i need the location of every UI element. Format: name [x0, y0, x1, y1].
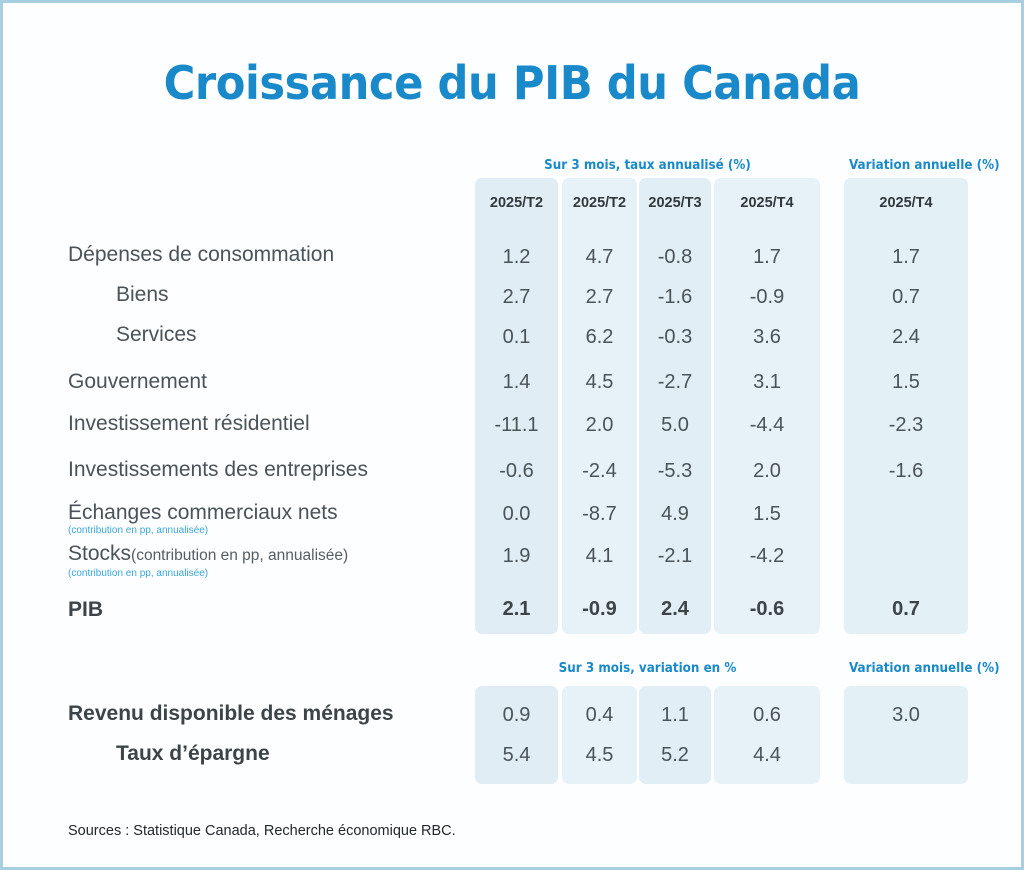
income-band-annual	[844, 686, 968, 784]
gdp-cell-r3-c0: 1.4	[475, 372, 558, 392]
gdp-cell-r8-c1: -0.9	[562, 599, 637, 619]
row-note-stocks-inline: (contribution en pp, annualisée)	[131, 547, 348, 564]
gdp-cell-r8-c0: 2.1	[475, 599, 558, 619]
gdp-col-header-3: 2025/T4	[714, 195, 820, 211]
row-label-taux-depargne: Taux d’épargne	[116, 743, 270, 764]
income-cell-r0-c1: 0.4	[562, 705, 637, 725]
gdp-cell-r6-c1: -8.7	[562, 504, 637, 524]
gdp-cell-r5-annual: -1.6	[844, 461, 968, 481]
gdp-cell-r3-annual: 1.5	[844, 372, 968, 392]
gdp-cell-r5-c2: -5.3	[639, 461, 711, 481]
gdp-cell-r1-c0: 2.7	[475, 287, 558, 307]
gdp-cell-r7-c0: 1.9	[475, 546, 558, 566]
row-label-stocks-text: Stocks	[68, 542, 131, 565]
row-label-investissements-des-entreprises: Investissements des entreprises	[68, 459, 368, 480]
row-label-stocks: Stocks(contribution en pp, annualisée)	[68, 543, 348, 564]
row-label-echanges-commerciaux-nets: Échanges commerciaux nets	[68, 502, 338, 523]
gdp-cell-r5-c1: -2.4	[562, 461, 637, 481]
gdp-cell-r0-c2: -0.8	[639, 247, 711, 267]
gdp-col-header-2: 2025/T3	[639, 195, 711, 211]
row-label-investissement-residentiel: Investissement résidentiel	[68, 413, 310, 434]
gdp-cell-r7-c1: 4.1	[562, 546, 637, 566]
gdp-cell-r4-c0: -11.1	[475, 415, 558, 435]
gdp-cell-r5-c0: -0.6	[475, 461, 558, 481]
gdp-col-header-annual: 2025/T4	[844, 195, 968, 211]
gdp-cell-r0-annual: 1.7	[844, 247, 968, 267]
gdp-cell-r2-c3: 3.6	[714, 327, 820, 347]
gdp-cell-r3-c2: -2.7	[639, 372, 711, 392]
row-note-stocks: (contribution en pp, annualisée)	[68, 569, 208, 579]
gdp-cell-r4-c1: 2.0	[562, 415, 637, 435]
gdp-quarterly-group-header: Sur 3 mois, taux annualisé (%)	[489, 158, 806, 173]
gdp-cell-r0-c3: 1.7	[714, 247, 820, 267]
row-label-services: Services	[116, 324, 197, 345]
gdp-cell-r1-c1: 2.7	[562, 287, 637, 307]
gdp-cell-r2-c0: 0.1	[475, 327, 558, 347]
gdp-cell-r4-c2: 5.0	[639, 415, 711, 435]
income-cell-r0-annual: 3.0	[844, 705, 968, 725]
income-annual-group-header: Variation annuelle (%)	[849, 661, 963, 676]
gdp-cell-r3-c3: 3.1	[714, 372, 820, 392]
page-inner: Croissance du PIB du Canada Sur 3 mois, …	[6, 6, 1018, 864]
gdp-cell-r2-c1: 6.2	[562, 327, 637, 347]
gdp-cell-r6-c3: 1.5	[714, 504, 820, 524]
income-band-col-2	[639, 686, 711, 784]
gdp-cell-r4-c3: -4.4	[714, 415, 820, 435]
row-label-biens: Biens	[116, 284, 169, 305]
income-quarterly-group-header: Sur 3 mois, variation en %	[489, 661, 806, 676]
income-cell-r0-c3: 0.6	[714, 705, 820, 725]
income-cell-r1-c1: 4.5	[562, 745, 637, 765]
gdp-cell-r4-annual: -2.3	[844, 415, 968, 435]
page-title: Croissance du PIB du Canada	[36, 56, 987, 110]
income-band-col-3	[714, 686, 820, 784]
infographic-page: Croissance du PIB du Canada Sur 3 mois, …	[0, 0, 1024, 870]
gdp-cell-r2-c2: -0.3	[639, 327, 711, 347]
income-cell-r1-c2: 5.2	[639, 745, 711, 765]
gdp-cell-r1-c2: -1.6	[639, 287, 711, 307]
gdp-cell-r7-c2: -2.1	[639, 546, 711, 566]
income-cell-r1-c3: 4.4	[714, 745, 820, 765]
income-cell-r1-c0: 5.4	[475, 745, 558, 765]
gdp-cell-r1-annual: 0.7	[844, 287, 968, 307]
gdp-cell-r2-annual: 2.4	[844, 327, 968, 347]
income-band-col-0	[475, 686, 558, 784]
row-label-gouvernement: Gouvernement	[68, 371, 207, 392]
gdp-col-header-1: 2025/T2	[562, 195, 637, 211]
gdp-cell-r8-c2: 2.4	[639, 599, 711, 619]
gdp-cell-r1-c3: -0.9	[714, 287, 820, 307]
row-label-pib: PIB	[68, 599, 103, 620]
gdp-cell-r6-c0: 0.0	[475, 504, 558, 524]
income-band-col-1	[562, 686, 637, 784]
row-label-revenu-disponible-des-menages: Revenu disponible des ménages	[68, 703, 394, 724]
income-cell-r0-c2: 1.1	[639, 705, 711, 725]
gdp-cell-r0-c1: 4.7	[562, 247, 637, 267]
gdp-cell-r5-c3: 2.0	[714, 461, 820, 481]
row-note-echanges-commerciaux-nets: (contribution en pp, annualisée)	[68, 526, 208, 536]
gdp-cell-r0-c0: 1.2	[475, 247, 558, 267]
row-label-depenses-de-consommation: Dépenses de consommation	[68, 244, 334, 265]
gdp-cell-r7-c3: -4.2	[714, 546, 820, 566]
gdp-cell-r6-c2: 4.9	[639, 504, 711, 524]
gdp-cell-r8-annual: 0.7	[844, 599, 968, 619]
gdp-annual-group-header: Variation annuelle (%)	[849, 158, 963, 173]
gdp-cell-r3-c1: 4.5	[562, 372, 637, 392]
income-cell-r0-c0: 0.9	[475, 705, 558, 725]
gdp-cell-r8-c3: -0.6	[714, 599, 820, 619]
source-note: Sources : Statistique Canada, Recherche …	[68, 823, 456, 839]
gdp-col-header-0: 2025/T2	[475, 195, 558, 211]
